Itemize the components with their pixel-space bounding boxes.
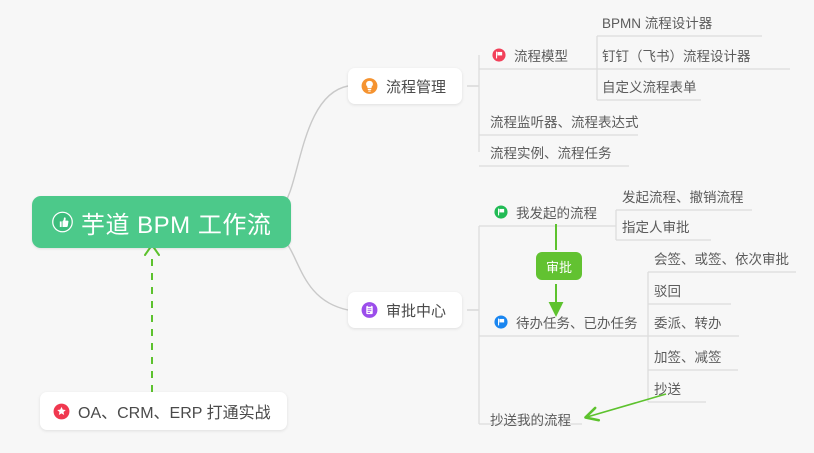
thumbs-up-circle-icon [52,212,73,233]
flag-circle-icon [494,205,508,219]
flag-circle-icon [492,48,506,62]
root-label: 芋道 BPM 工作流 [81,205,271,240]
wire-root-to-approval-center [282,238,348,310]
lightbulb-circle-icon [361,78,378,95]
group-node-process-model[interactable]: 流程模型 [492,42,568,68]
leaf-label: 委派、转办 [654,312,722,332]
branch-label-approval-center: 审批中心 [386,300,446,321]
branch-label-process-management: 流程管理 [386,76,446,97]
leaf-label: 指定人审批 [622,216,690,236]
leaf-node-dingtalk-designer[interactable]: 钉钉（飞书）流程设计器 [602,42,751,68]
branch-node-process-management[interactable]: 流程管理 [348,68,462,104]
flag-circle-icon [494,315,508,329]
group-label-cc-to-me: 抄送我的流程 [490,409,571,429]
clipboard-circle-icon [361,302,378,319]
group-label-instance: 流程实例、流程任务 [490,142,612,162]
mindmap-canvas: 芋道 BPM 工作流 流程管理 审批中心 [0,0,814,453]
group-node-my-started[interactable]: 我发起的流程 [494,199,597,225]
leaf-node-bpmn-designer[interactable]: BPMN 流程设计器 [602,9,712,35]
wire-root-to-process-management [282,86,348,206]
approval-tag-label: 审批 [546,257,572,276]
leaf-label: 驳回 [654,280,681,300]
leaf-label: 钉钉（飞书）流程设计器 [602,45,751,65]
leaf-node-assignee-approve[interactable]: 指定人审批 [622,213,690,239]
group-label-my-started: 我发起的流程 [516,202,597,222]
leaf-label: 加签、减签 [654,346,722,366]
footer-card-label: OA、CRM、ERP 打通实战 [78,399,271,423]
leaf-label: 会签、或签、依次审批 [654,248,789,268]
leaf-node-custom-form[interactable]: 自定义流程表单 [602,73,697,99]
leaf-node-add-remove-sign[interactable]: 加签、减签 [654,343,722,369]
group-node-instance[interactable]: 流程实例、流程任务 [490,139,612,165]
approval-tag-badge: 审批 [536,252,582,280]
leaf-label: 自定义流程表单 [602,76,697,96]
group-node-listener[interactable]: 流程监听器、流程表达式 [490,108,639,134]
leaf-label: 抄送 [654,378,681,398]
group-node-cc-to-me[interactable]: 抄送我的流程 [490,406,571,432]
group-label-todo-done: 待办任务、已办任务 [516,312,638,332]
group-label-listener: 流程监听器、流程表达式 [490,111,639,131]
leaf-label: BPMN 流程设计器 [602,12,712,32]
leaf-node-start-cancel[interactable]: 发起流程、撤销流程 [622,183,744,209]
group-node-todo-done[interactable]: 待办任务、已办任务 [494,309,638,335]
root-node[interactable]: 芋道 BPM 工作流 [32,196,291,248]
leaf-node-reject[interactable]: 驳回 [654,277,681,303]
star-circle-icon [53,403,70,420]
group-label-process-model: 流程模型 [514,45,568,65]
footer-card-integration[interactable]: OA、CRM、ERP 打通实战 [40,392,287,430]
leaf-node-cc[interactable]: 抄送 [654,375,681,401]
leaf-node-delegate-transfer[interactable]: 委派、转办 [654,309,722,335]
leaf-node-countersign[interactable]: 会签、或签、依次审批 [654,245,789,271]
branch-node-approval-center[interactable]: 审批中心 [348,292,462,328]
leaf-label: 发起流程、撤销流程 [622,186,744,206]
